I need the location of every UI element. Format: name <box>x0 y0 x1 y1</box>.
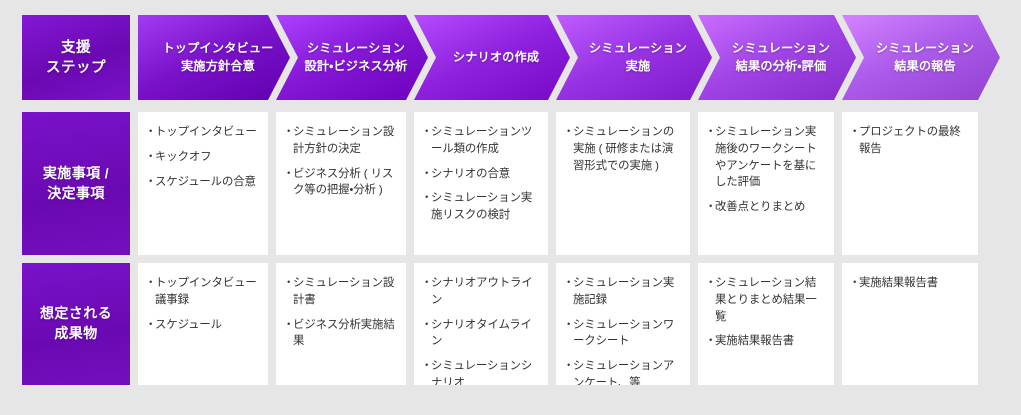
list-item: トップインタビュー <box>147 124 260 141</box>
step-chevron-2[interactable]: シミュレーション設計・ビジネス分析 <box>276 15 428 100</box>
cell-r2-c6: 実施結果報告書 <box>842 263 978 385</box>
step-chevron-1[interactable]: トップインタビュー実施方針合意 <box>138 15 290 100</box>
list-item: シミュレーションアンケート、等 <box>565 358 682 385</box>
cell-item-list: プロジェクトの最終報告 <box>851 124 970 158</box>
cell-item-list: トップインタビューキックオフスケジュールの合意 <box>147 124 260 190</box>
cell-item-list: シミュレーションの実施 ( 研修または演習形式での実施 ) <box>565 124 682 174</box>
step-chevron-label: シミュレーション実施 <box>575 40 693 75</box>
cell-item-list: トップインタビュー議事録スケジュール <box>147 275 260 333</box>
diagram-title-label: 支援ステップ <box>46 38 106 78</box>
list-item: シミュレーションワークシート <box>565 317 682 351</box>
step-chevron-6[interactable]: シミュレーション結果の報告 <box>842 15 1000 100</box>
row-label-2: 想定される成果物 <box>22 263 130 385</box>
list-item: トップインタビュー議事録 <box>147 275 260 309</box>
list-item: 実施結果報告書 <box>707 333 826 350</box>
list-item: 改善点とりまとめ <box>707 199 826 216</box>
cell-item-list: シミュレーション設計方針の決定ビジネス分析 ( リスク等の把握・分析 ) <box>285 124 398 199</box>
list-item: シナリオアウトライン <box>423 275 540 309</box>
list-item: シミュレーションツール類の作成 <box>423 124 540 158</box>
step-chevron-4[interactable]: シミュレーション実施 <box>556 15 712 100</box>
cell-r2-c1: トップインタビュー議事録スケジュール <box>138 263 268 385</box>
row-label-1: 実施事項 /決定事項 <box>22 112 130 255</box>
cell-r2-c2: シミュレーション設計書ビジネス分析実施結果 <box>276 263 406 385</box>
step-chevron-3[interactable]: シナリオの作成 <box>414 15 570 100</box>
list-item: シミュレーション実施リスクの検討 <box>423 190 540 224</box>
list-item: シナリオタイムライン <box>423 317 540 351</box>
cell-item-list: シミュレーション実施後のワークシートやアンケートを基にした評価改善点とりまとめ <box>707 124 826 216</box>
cell-item-list: シミュレーション結果とりまとめ結果一覧実施結果報告書 <box>707 275 826 350</box>
cell-item-list: 実施結果報告書 <box>851 275 970 292</box>
cell-r1-c6: プロジェクトの最終報告 <box>842 112 978 255</box>
list-item: シミュレーションの実施 ( 研修または演習形式での実施 ) <box>565 124 682 174</box>
cell-r2-c3: シナリオアウトラインシナリオタイムラインシミュレーションシナリオシミュレーション… <box>414 263 548 385</box>
cell-r1-c3: シミュレーションツール類の作成シナリオの合意シミュレーション実施リスクの検討 <box>414 112 548 255</box>
cell-r2-c5: シミュレーション結果とりまとめ結果一覧実施結果報告書 <box>698 263 834 385</box>
cell-item-list: シナリオアウトラインシナリオタイムラインシミュレーションシナリオシミュレーション… <box>423 275 540 385</box>
list-item: プロジェクトの最終報告 <box>851 124 970 158</box>
list-item: 実施結果報告書 <box>851 275 970 292</box>
step-header-row: 支援ステップ トップインタビュー実施方針合意シミュレーション設計・ビジネス分析シ… <box>0 15 1021 100</box>
step-chevron-label: シミュレーション結果の分析・評価 <box>718 40 836 75</box>
list-item: ビジネス分析 ( リスク等の把握・分析 ) <box>285 166 398 200</box>
cell-item-list: シミュレーションツール類の作成シナリオの合意シミュレーション実施リスクの検討 <box>423 124 540 224</box>
cell-item-list: シミュレーション設計書ビジネス分析実施結果 <box>285 275 398 350</box>
cell-r1-c5: シミュレーション実施後のワークシートやアンケートを基にした評価改善点とりまとめ <box>698 112 834 255</box>
diagram-title-box: 支援ステップ <box>22 15 130 100</box>
list-item: シミュレーション実施記録 <box>565 275 682 309</box>
list-item: シミュレーションシナリオ <box>423 358 540 385</box>
list-item: シナリオの合意 <box>423 166 540 183</box>
cell-r1-c1: トップインタビューキックオフスケジュールの合意 <box>138 112 268 255</box>
process-diagram: 支援ステップ トップインタビュー実施方針合意シミュレーション設計・ビジネス分析シ… <box>0 0 1021 415</box>
list-item: キックオフ <box>147 149 260 166</box>
list-item: ビジネス分析実施結果 <box>285 317 398 351</box>
list-item: シミュレーション設計書 <box>285 275 398 309</box>
list-item: スケジュール <box>147 317 260 334</box>
cell-r1-c2: シミュレーション設計方針の決定ビジネス分析 ( リスク等の把握・分析 ) <box>276 112 406 255</box>
step-chevron-label: シミュレーション結果の報告 <box>862 40 980 75</box>
cell-r1-c4: シミュレーションの実施 ( 研修または演習形式での実施 ) <box>556 112 690 255</box>
cell-item-list: シミュレーション実施記録シミュレーションワークシートシミュレーションアンケート、… <box>565 275 682 385</box>
row-label-text: 想定される成果物 <box>40 304 112 343</box>
cell-r2-c4: シミュレーション実施記録シミュレーションワークシートシミュレーションアンケート、… <box>556 263 690 385</box>
step-chevron-label: トップインタビュー実施方針合意 <box>148 40 279 75</box>
list-item: シミュレーション設計方針の決定 <box>285 124 398 158</box>
step-chevron-label: シナリオの作成 <box>439 49 545 66</box>
list-item: シミュレーション実施後のワークシートやアンケートを基にした評価 <box>707 124 826 191</box>
step-chevron-5[interactable]: シミュレーション結果の分析・評価 <box>698 15 856 100</box>
step-chevron-label: シミュレーション設計・ビジネス分析 <box>291 40 414 75</box>
row-label-text: 実施事項 /決定事項 <box>43 164 109 203</box>
list-item: シミュレーション結果とりまとめ結果一覧 <box>707 275 826 325</box>
list-item: スケジュールの合意 <box>147 174 260 191</box>
